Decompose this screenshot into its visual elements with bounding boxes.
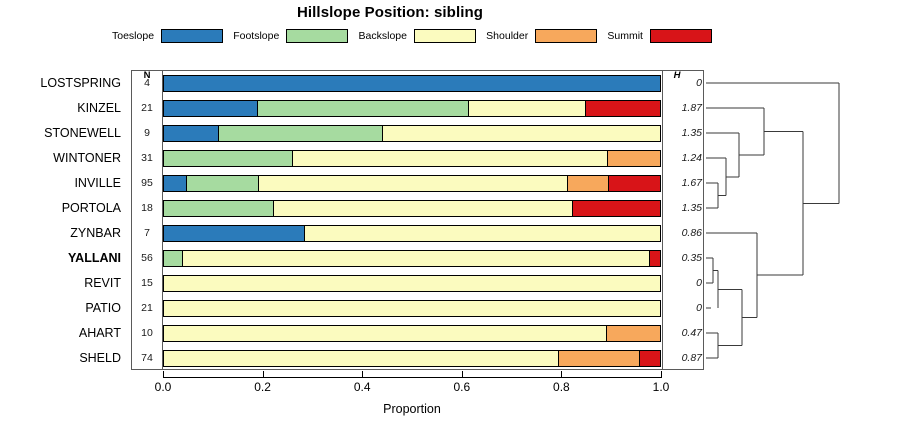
n-value: 95 bbox=[134, 171, 160, 196]
x-tick bbox=[661, 371, 662, 378]
bar-segment-footslope[interactable] bbox=[186, 176, 258, 191]
x-tick bbox=[561, 371, 562, 378]
bar-segment-backslope[interactable] bbox=[273, 201, 573, 216]
bar-segment-summit[interactable] bbox=[608, 176, 660, 191]
legend-item-summit: Summit bbox=[607, 29, 712, 43]
bar-segment-footslope[interactable] bbox=[218, 126, 382, 141]
category-label: KINZEL bbox=[0, 96, 121, 121]
category-label: PORTOLA bbox=[0, 196, 121, 221]
n-value: 21 bbox=[134, 96, 160, 121]
n-value: 9 bbox=[134, 121, 160, 146]
n-value: 7 bbox=[134, 221, 160, 246]
x-tick bbox=[163, 371, 164, 378]
bar-segment-backslope[interactable] bbox=[258, 176, 568, 191]
legend-item-footslope: Footslope bbox=[233, 29, 348, 43]
bar-segment-toeslope[interactable] bbox=[164, 226, 304, 241]
bar-segment-backslope[interactable] bbox=[292, 151, 608, 166]
x-tick-label: 0.6 bbox=[439, 380, 485, 394]
legend-swatch bbox=[161, 29, 223, 43]
h-value: 1.87 bbox=[664, 96, 702, 121]
h-value: 0 bbox=[664, 271, 702, 296]
legend-label: Footslope bbox=[233, 30, 279, 42]
n-value: 74 bbox=[134, 346, 160, 371]
stacked-bar[interactable] bbox=[163, 150, 661, 167]
legend-item-toeslope: Toeslope bbox=[112, 29, 223, 43]
bar-segment-shoulder[interactable] bbox=[567, 176, 609, 191]
x-tick-label: 0.2 bbox=[240, 380, 286, 394]
legend-label: Backslope bbox=[359, 30, 407, 42]
bar-segment-summit[interactable] bbox=[639, 351, 660, 366]
bar-segment-toeslope[interactable] bbox=[164, 126, 218, 141]
category-label: AHART bbox=[0, 321, 121, 346]
h-value: 0.86 bbox=[664, 221, 702, 246]
n-value: 10 bbox=[134, 321, 160, 346]
stacked-bar[interactable] bbox=[163, 275, 661, 292]
bar-segment-footslope[interactable] bbox=[257, 101, 468, 116]
category-label: WINTONER bbox=[0, 146, 121, 171]
category-label: STONEWELL bbox=[0, 121, 121, 146]
legend-label: Summit bbox=[607, 30, 643, 42]
stacked-bar[interactable] bbox=[163, 125, 661, 142]
bar-segment-summit[interactable] bbox=[649, 251, 660, 266]
legend-swatch bbox=[650, 29, 712, 43]
h-value: 1.35 bbox=[664, 121, 702, 146]
h-value: 0.87 bbox=[664, 346, 702, 371]
bar-segment-backslope[interactable] bbox=[164, 326, 607, 341]
bar-segment-summit[interactable] bbox=[572, 201, 660, 216]
stacked-bar[interactable] bbox=[163, 250, 661, 267]
category-label: LOSTSPRING bbox=[0, 71, 121, 96]
bar-segment-backslope[interactable] bbox=[164, 301, 660, 316]
x-tick bbox=[362, 371, 363, 378]
x-tick bbox=[263, 371, 264, 378]
stacked-bar[interactable] bbox=[163, 175, 661, 192]
x-tick bbox=[462, 371, 463, 378]
n-value: 15 bbox=[134, 271, 160, 296]
bar-segment-summit[interactable] bbox=[585, 101, 660, 116]
legend-swatch bbox=[286, 29, 348, 43]
h-value: 0 bbox=[664, 71, 702, 96]
n-value: 21 bbox=[134, 296, 160, 321]
bar-segment-toeslope[interactable] bbox=[164, 76, 660, 91]
bar-segment-backslope[interactable] bbox=[382, 126, 660, 141]
bar-segment-backslope[interactable] bbox=[164, 276, 660, 291]
bar-segment-backslope[interactable] bbox=[164, 351, 559, 366]
dendrogram bbox=[704, 62, 900, 378]
bar-segment-footslope[interactable] bbox=[164, 201, 274, 216]
bar-segment-backslope[interactable] bbox=[468, 101, 585, 116]
stacked-bar[interactable] bbox=[163, 325, 661, 342]
category-label: PATIO bbox=[0, 296, 121, 321]
bar-segment-footslope[interactable] bbox=[164, 251, 183, 266]
n-value: 18 bbox=[134, 196, 160, 221]
stacked-bar[interactable] bbox=[163, 100, 661, 117]
n-value: 31 bbox=[134, 146, 160, 171]
x-tick-label: 1.0 bbox=[638, 380, 684, 394]
bar-segment-shoulder[interactable] bbox=[558, 351, 640, 366]
h-value: 0 bbox=[664, 296, 702, 321]
stacked-bar[interactable] bbox=[163, 75, 661, 92]
stacked-bar[interactable] bbox=[163, 225, 661, 242]
legend-item-backslope: Backslope bbox=[359, 29, 476, 43]
bar-segment-shoulder[interactable] bbox=[606, 326, 660, 341]
category-label: INVILLE bbox=[0, 171, 121, 196]
n-value: 56 bbox=[134, 246, 160, 271]
category-label: ZYNBAR bbox=[0, 221, 121, 246]
x-axis-line bbox=[163, 377, 661, 378]
category-label: YALLANI bbox=[0, 246, 121, 271]
stacked-bar[interactable] bbox=[163, 300, 661, 317]
stacked-bar[interactable] bbox=[163, 200, 661, 217]
bar-segment-backslope[interactable] bbox=[304, 226, 660, 241]
x-tick-label: 0.0 bbox=[140, 380, 186, 394]
h-value: 0.47 bbox=[664, 321, 702, 346]
h-value: 1.35 bbox=[664, 196, 702, 221]
legend-item-shoulder: Shoulder bbox=[486, 29, 597, 43]
chart-title: Hillslope Position: sibling bbox=[0, 4, 780, 21]
legend: ToeslopeFootslopeBackslopeShoulderSummit bbox=[112, 26, 712, 46]
legend-label: Shoulder bbox=[486, 30, 528, 42]
bar-segment-footslope[interactable] bbox=[164, 151, 293, 166]
bar-segment-backslope[interactable] bbox=[182, 251, 650, 266]
h-value: 1.67 bbox=[664, 171, 702, 196]
bar-segment-toeslope[interactable] bbox=[164, 176, 187, 191]
x-tick-label: 0.8 bbox=[538, 380, 584, 394]
bar-segment-shoulder[interactable] bbox=[607, 151, 660, 166]
legend-label: Toeslope bbox=[112, 30, 154, 42]
bar-segment-toeslope[interactable] bbox=[164, 101, 258, 116]
stacked-bar[interactable] bbox=[163, 350, 661, 367]
x-tick-label: 0.4 bbox=[339, 380, 385, 394]
x-axis-title: Proportion bbox=[163, 402, 661, 416]
category-label: SHELD bbox=[0, 346, 121, 371]
h-value: 1.24 bbox=[664, 146, 702, 171]
n-value: 4 bbox=[134, 71, 160, 96]
h-value: 0.35 bbox=[664, 246, 702, 271]
legend-swatch bbox=[414, 29, 476, 43]
category-label: REVIT bbox=[0, 271, 121, 296]
legend-swatch bbox=[535, 29, 597, 43]
